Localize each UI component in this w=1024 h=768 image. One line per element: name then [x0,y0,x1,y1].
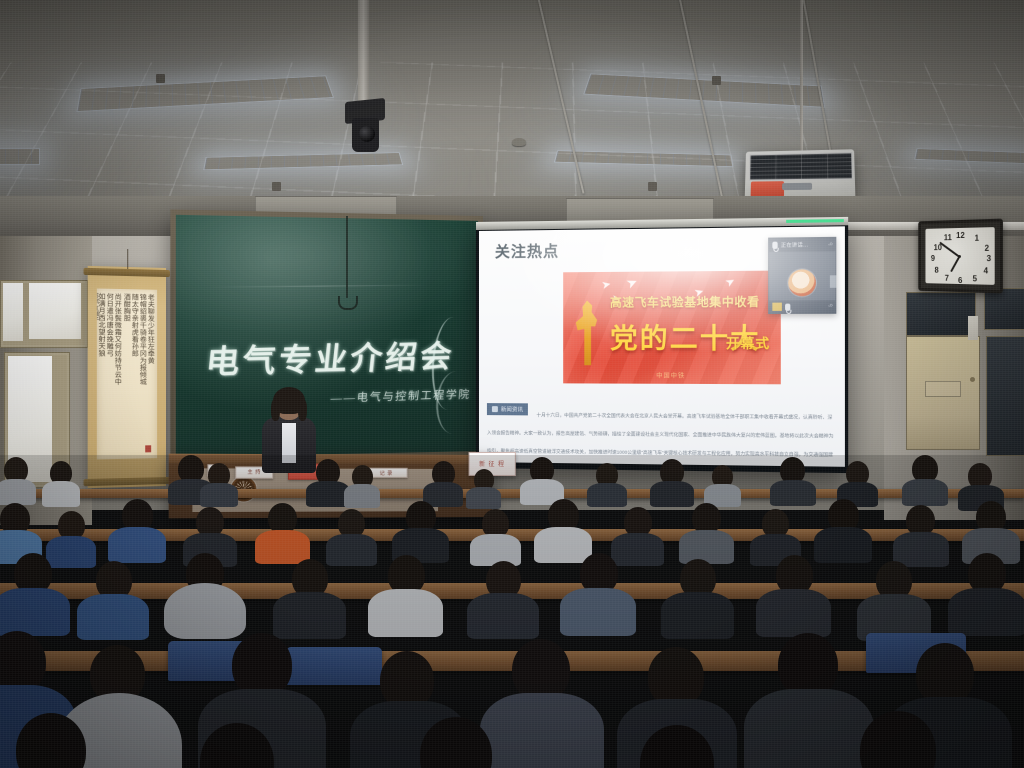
video-thumbnail[interactable] [772,303,782,311]
torso [534,527,592,563]
clock-minute-hand [939,242,959,257]
torso [756,589,831,637]
calligraphy-column: 酒酣胸胆 [123,293,130,455]
microphone-icon [772,242,777,249]
torso [661,592,734,639]
clock-numeral: 5 [973,274,977,283]
chalk-smudge [176,215,478,348]
torso [948,588,1024,636]
audio-wave-icon: ᵕᴼ [828,242,832,248]
clock-numeral: 4 [984,266,988,275]
video-call-toolbar[interactable]: ᵕᴼ [769,300,835,313]
torso [344,484,380,508]
torso [108,527,166,563]
torso [46,536,96,568]
clock-numeral: 1 [975,234,979,243]
blackboard-surface: 电气专业介绍会 ——电气与控制工程学院 [176,215,478,457]
calligraphy-text: 老夫聊发少年狂左牵黄 锦帽貂裘千骑卷平冈为报倾城 随太守亲射虎看孙郎 酒酣胸胆 … [100,293,154,456]
torso [770,480,816,506]
torso [480,693,604,768]
door-plate [925,381,961,397]
right-door[interactable] [906,336,980,450]
clock-numeral: 7 [945,274,949,283]
clock-numeral: 8 [935,266,939,275]
video-call-panel[interactable]: 正在讲话… ᵕᴼ ᵕᴼ [768,237,836,314]
screen-status-light [786,219,844,223]
blackboard: 电气专业介绍会 ——电气与控制工程学院 [170,209,483,462]
torso [470,534,521,566]
clock-face: 12 1 2 3 4 5 6 7 8 9 10 11 [925,227,994,285]
banner-line-3: 开幕式 [726,333,770,353]
head [512,639,570,701]
clock-numeral: 12 [956,231,965,240]
banner-line-1: 高速飞车试验基地集中收看 [610,293,774,310]
torso [0,479,36,505]
lecture-hall-photo: 12 1 2 3 4 5 6 7 8 9 10 11 电气专业介绍会 ——电气与… [0,0,1024,768]
torso [0,588,70,636]
torso [611,533,664,566]
door-handle-icon[interactable] [970,377,975,382]
torso [42,481,80,507]
clock-numeral: 9 [931,254,935,263]
right-door-transom [984,288,1024,330]
clock-hour-hand [950,257,960,273]
head [0,631,46,693]
presenter-hair [273,387,305,414]
video-call-side-handle[interactable] [830,275,836,288]
wall-clock: 12 1 2 3 4 5 6 7 8 9 10 11 [918,219,1003,294]
audio-wave-icon: ᵕᴼ [828,303,832,309]
clock-numeral: 11 [944,233,952,242]
torso [744,689,874,768]
calligraphy-column: 随太守亲射虎看孙郎 [131,293,138,454]
clock-numeral: 3 [987,254,992,263]
scroll-hanging-string [127,249,128,269]
calligraphy-column: 老夫聊发少年狂左牵黄 [147,294,154,455]
news-icon [492,406,498,412]
torso [650,481,694,507]
right-door-dark-panel [986,336,1024,456]
scroll-rod-top [84,268,170,277]
window-pane [29,283,81,339]
user-avatar [788,269,816,296]
torso [679,530,734,564]
head [778,633,838,697]
torso [902,479,948,506]
microphone-icon[interactable] [785,303,790,310]
audience-area [0,455,1024,768]
clock-numeral: 6 [958,276,962,285]
hanging-hook-icon [338,296,358,310]
projection-screen: 关注热点 ➤ ➤ ➤ ➤ ➤ 高速飞车试验基地集中收看 党的二十大 开幕式 中国… [476,217,848,473]
head [916,643,974,705]
torso [467,593,539,639]
calligraphy-column: 何日遣冯唐会挽雕弓 [106,293,113,455]
torso [273,592,346,639]
torso [200,483,238,507]
calligraphy-column: 锦帽貂裘千骑卷平冈为报倾城 [139,293,146,454]
presentation-slide: 关注热点 ➤ ➤ ➤ ➤ ➤ 高速飞车试验基地集中收看 党的二十大 开幕式 中国… [479,226,845,467]
slide-red-banner: ➤ ➤ ➤ ➤ ➤ 高速飞车试验基地集中收看 党的二十大 开幕式 中国中铁 [563,271,781,385]
calligraphy-seal-icon [145,445,151,452]
torso [77,594,149,640]
slide-title: 关注热点 [495,240,559,262]
clock-numeral: 2 [985,244,989,253]
calligraphy-column: 尚开张鬓微霜又何妨持节云中 [114,293,121,455]
blackboard-title: 电气专业介绍会 [204,330,457,382]
video-call-participant-label: 正在讲话… [781,241,809,249]
hanging-wire [346,216,348,298]
slide-note-tag-label: 新闻资讯 [501,405,523,413]
head [648,647,704,707]
torso [560,588,636,636]
head [232,633,292,697]
torso [814,527,872,563]
banner-footer: 中国中铁 [563,370,781,380]
hood [164,583,246,639]
left-window-upper [0,280,88,348]
torso [326,534,377,566]
right-wall-panel [968,316,978,340]
calligraphy-column: 如满月西北望射天狼 [98,293,105,456]
torso [368,589,443,637]
video-call-titlebar: 正在讲话… ᵕᴼ [769,238,835,252]
torso [466,487,501,509]
window-pane [3,283,23,341]
slide-note-tag: 新闻资讯 [487,403,528,415]
torso [587,483,627,507]
right-door-transom [906,292,976,336]
lecture-chair [286,647,382,685]
dove-icon: ➤ [601,279,613,292]
clock-center-pin [958,254,961,257]
scroll-paper: 老夫聊发少年狂左牵黄 锦帽貂裘千骑卷平冈为报倾城 随太守亲射虎看孙郎 酒酣胸胆 … [97,288,157,459]
torso [255,530,310,564]
